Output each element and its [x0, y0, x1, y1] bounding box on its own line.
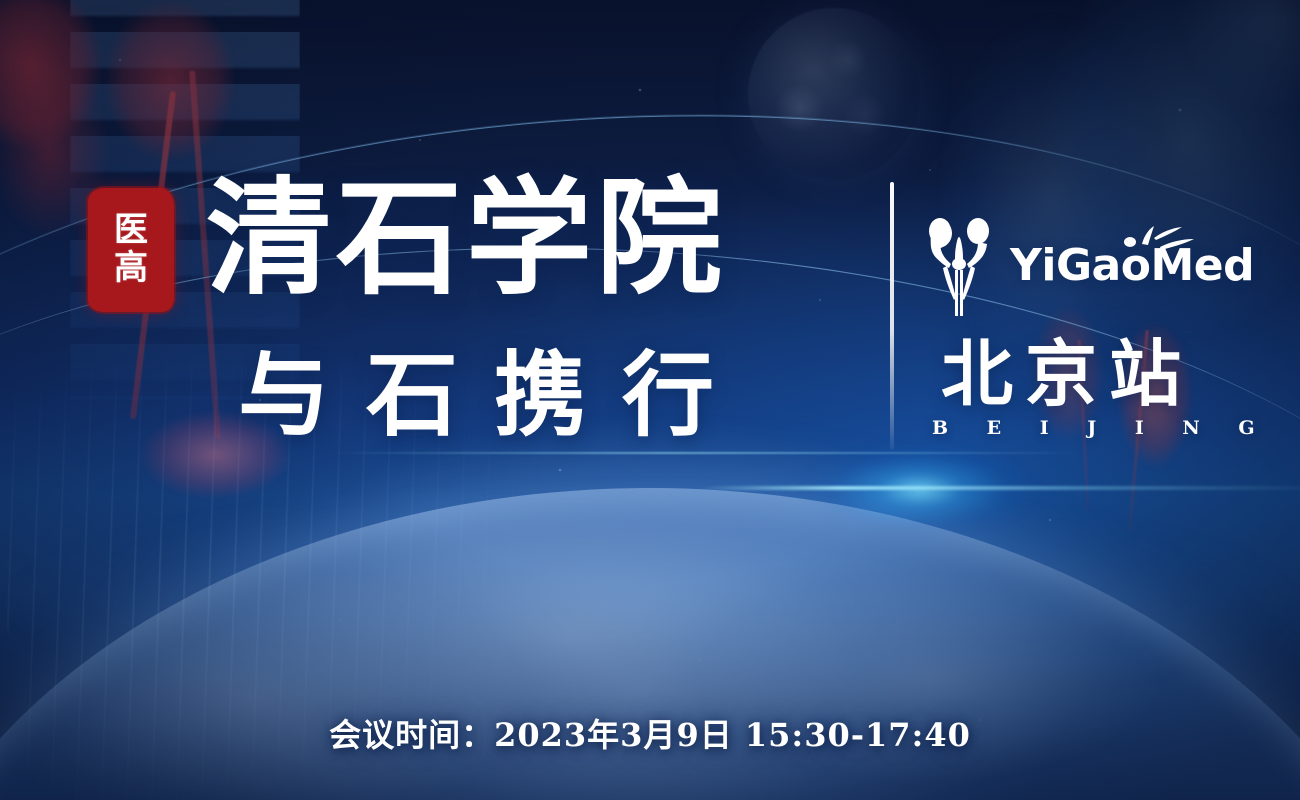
brand-lockup: YiGaoMed: [922, 214, 1254, 318]
page-subtitle: 与石携行: [238, 350, 750, 442]
brand-name: YiGaoMed: [1010, 244, 1254, 288]
kidney-urinary-system-icon: [922, 214, 996, 318]
meeting-time: 会议时间：2023年3月9日 15:30-17:40: [0, 710, 1300, 756]
poster-canvas: 医 高 清石学院 与石携行: [0, 0, 1300, 800]
city-block: 北京站 B E I J I N G: [916, 338, 1206, 439]
city-name-en: B E I J I N G: [916, 417, 1206, 439]
seal-stamp: 医 高: [88, 188, 174, 312]
seal-char-top: 医: [114, 213, 148, 249]
seal-char-bottom: 高: [114, 251, 148, 287]
city-name-cn: 北京站: [916, 338, 1206, 410]
poster-content: 医 高 清石学院 与石携行: [0, 0, 1300, 800]
swoosh-icon: [1120, 222, 1206, 252]
vertical-divider: [890, 182, 894, 450]
page-title: 清石学院: [206, 176, 726, 302]
